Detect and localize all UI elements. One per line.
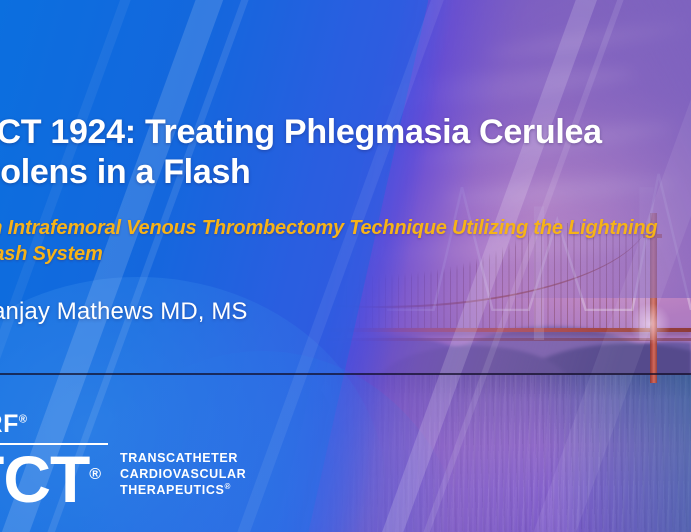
tct-logo: CRF® TCT® TRANSCATHETER CARDIOVASCULAR T… (0, 412, 246, 510)
logo-mark: CRF® TCT® (0, 412, 108, 510)
logo-tagline-line-1: TRANSCATHETER (120, 451, 238, 465)
registered-trademark-icon: ® (224, 482, 231, 491)
logo-tagline: TRANSCATHETER CARDIOVASCULAR THERAPEUTIC… (120, 450, 246, 498)
slide-subtitle: An Intrafemoral Venous Thrombectomy Tech… (0, 215, 676, 268)
page-title: TCT 1924: Treating Phlegmasia Cerulea Do… (0, 112, 691, 193)
logo-tagline-line-3: THERAPEUTICS (120, 483, 224, 497)
crf-text: CRF (0, 410, 19, 438)
registered-trademark-icon: ® (19, 414, 28, 426)
horizontal-divider (0, 373, 691, 375)
presenter-name: Sanjay Mathews MD, MS (0, 298, 691, 326)
title-line-2: Dolens in a Flash (0, 153, 251, 191)
tct-text: TCT (0, 442, 89, 516)
title-line-1: TCT 1924: Treating Phlegmasia Cerulea (0, 113, 602, 151)
crf-wordmark: CRF® (0, 412, 28, 437)
tct-wordmark: TCT® (0, 449, 101, 510)
presentation-title-slide: TCT 1924: Treating Phlegmasia Cerulea Do… (0, 0, 691, 532)
logo-tagline-line-2: CARDIOVASCULAR (120, 467, 246, 481)
slide-text-block: TCT 1924: Treating Phlegmasia Cerulea Do… (0, 112, 691, 326)
registered-trademark-icon: ® (89, 466, 101, 483)
